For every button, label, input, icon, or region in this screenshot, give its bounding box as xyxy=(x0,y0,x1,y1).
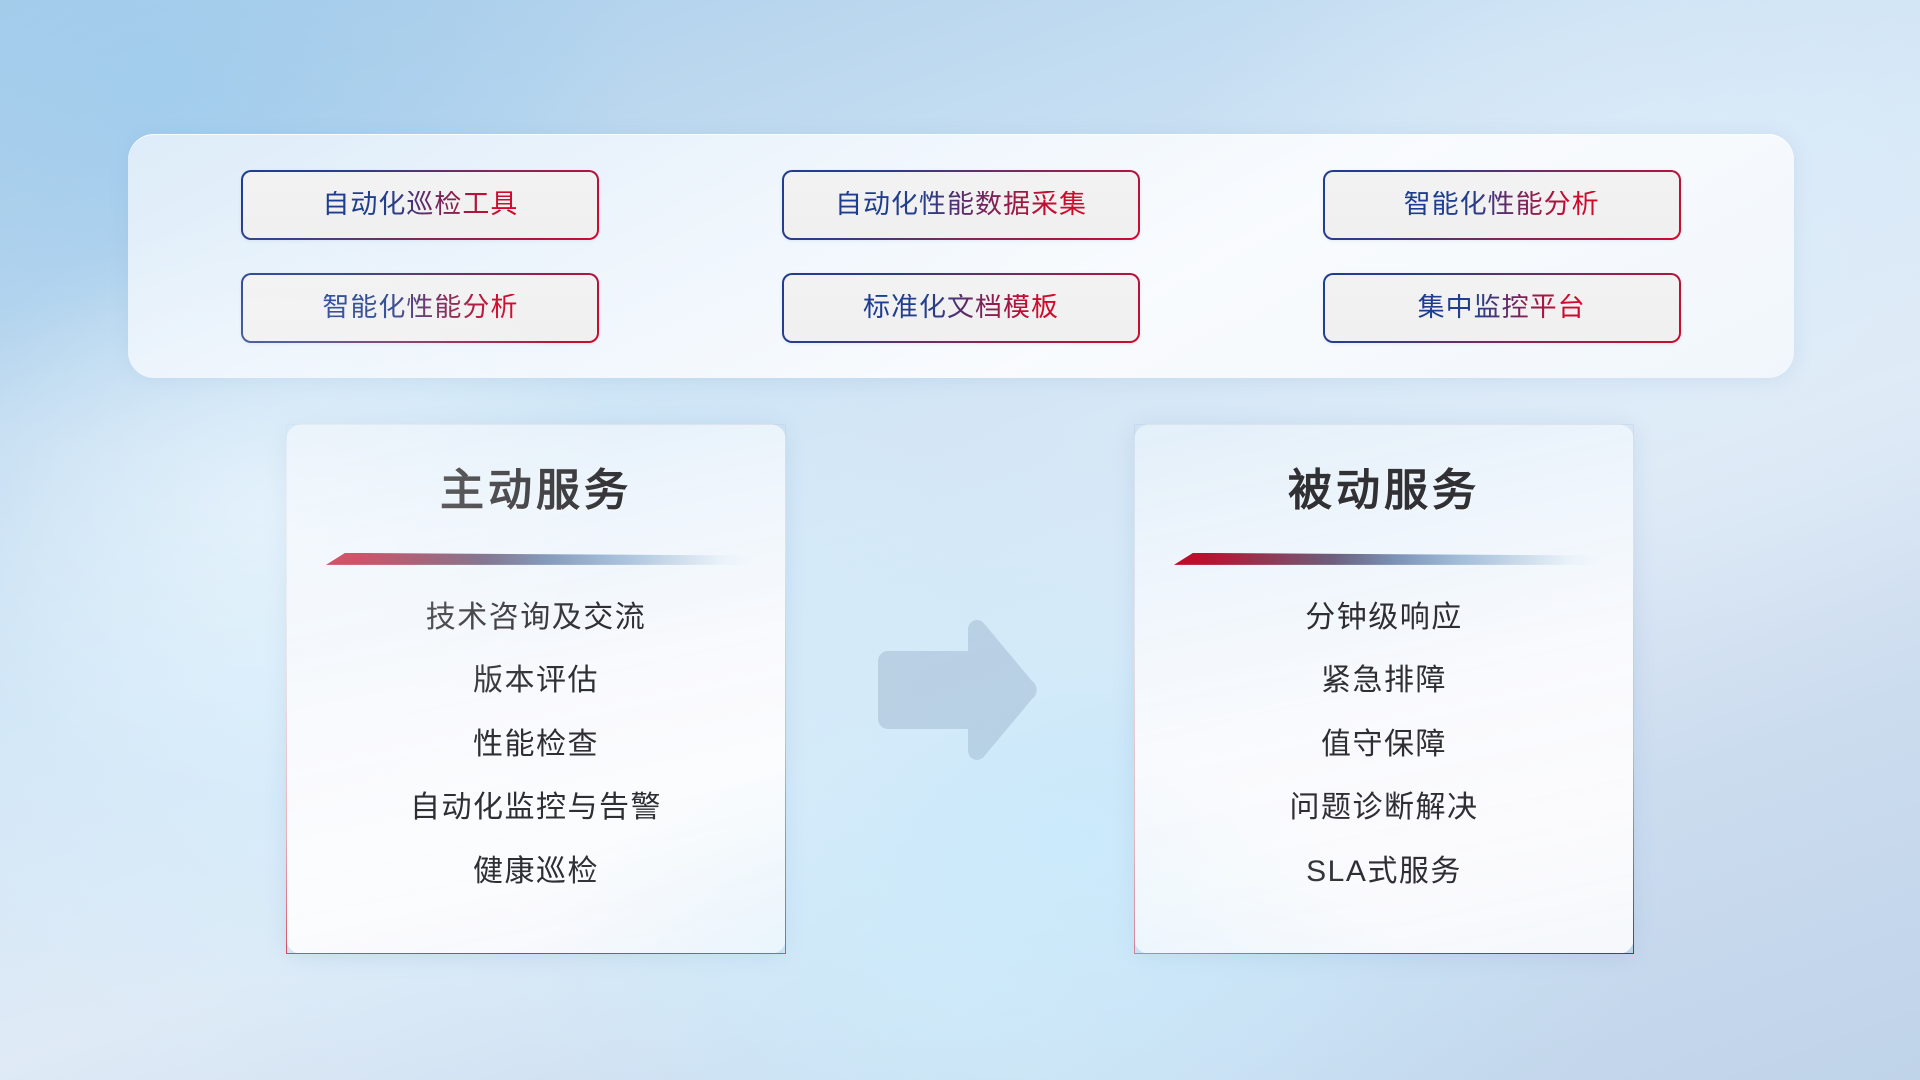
capability-tag-label: 自动化性能数据采集 xyxy=(835,191,1087,218)
service-item: 技术咨询及交流 xyxy=(317,599,755,637)
service-card-reactive: 被动服务 分钟级响应 紧急排障 值守保障 问题诊断解决 SLA式服务 xyxy=(1134,424,1634,954)
service-item-list: 分钟级响应 紧急排障 值守保障 问题诊断解决 SLA式服务 xyxy=(1165,599,1603,891)
service-card-title: 被动服务 xyxy=(1165,465,1603,517)
service-item: 版本评估 xyxy=(317,662,755,700)
service-card-proactive: 主动服务 技术咨询及交流 版本评估 性能检查 自动化监控与告警 健康巡检 xyxy=(286,424,786,954)
capability-tag-label: 智能化性能分析 xyxy=(1404,191,1600,218)
capability-tag[interactable]: 自动化性能数据采集 xyxy=(782,170,1140,240)
card-divider xyxy=(1167,553,1601,565)
service-item: 分钟级响应 xyxy=(1165,599,1603,637)
slide-canvas: 自动化巡检工具 自动化性能数据采集 智能化性能分析 智能化性能分析 标准化文档模… xyxy=(0,0,1920,1080)
capability-tag[interactable]: 集中监控平台 xyxy=(1323,273,1681,343)
capability-panel: 自动化巡检工具 自动化性能数据采集 智能化性能分析 智能化性能分析 标准化文档模… xyxy=(128,134,1794,378)
capability-tag-label: 智能化性能分析 xyxy=(322,294,518,321)
capability-tag-label: 自动化巡检工具 xyxy=(322,191,518,218)
service-card-title: 主动服务 xyxy=(317,465,755,517)
service-item: 健康巡检 xyxy=(317,853,755,891)
capability-tag-label: 集中监控平台 xyxy=(1418,294,1586,321)
service-item: 问题诊断解决 xyxy=(1165,789,1603,827)
arrow-right-icon xyxy=(872,615,1040,765)
service-item-list: 技术咨询及交流 版本评估 性能检查 自动化监控与告警 健康巡检 xyxy=(317,599,755,891)
capability-tag[interactable]: 智能化性能分析 xyxy=(1323,170,1681,240)
service-item: 性能检查 xyxy=(317,726,755,764)
card-divider-bar xyxy=(319,553,753,565)
service-item: SLA式服务 xyxy=(1165,853,1603,891)
capability-tag[interactable]: 智能化性能分析 xyxy=(241,273,599,343)
service-item: 值守保障 xyxy=(1165,726,1603,764)
card-divider-bar xyxy=(1167,553,1601,565)
service-item: 紧急排障 xyxy=(1165,662,1603,700)
capability-tag[interactable]: 自动化巡检工具 xyxy=(241,170,599,240)
card-divider xyxy=(319,553,753,565)
capability-tag[interactable]: 标准化文档模板 xyxy=(782,273,1140,343)
capability-tag-label: 标准化文档模板 xyxy=(863,294,1059,321)
service-item: 自动化监控与告警 xyxy=(317,789,755,827)
